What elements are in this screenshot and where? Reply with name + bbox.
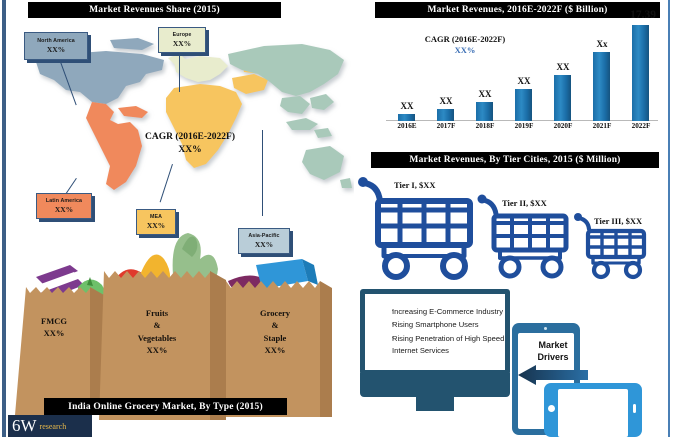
grocery-bags-illustration: FMCG XX% Fruits & Vegetables XX% Grocery…: [14, 215, 344, 420]
phone-screen: [558, 389, 628, 437]
bar-value-2021F: Xx: [582, 39, 622, 49]
bag-line: Staple: [230, 332, 320, 344]
logo-text: 6W: [12, 416, 37, 436]
bag-line: XX%: [230, 344, 320, 356]
x-tick-2019F: 2019F: [504, 122, 544, 130]
cart-tier-1: [358, 177, 470, 277]
map-label-value: XX%: [173, 39, 191, 48]
tablet-camera-icon: [544, 327, 547, 330]
map-label-name: Europe: [173, 32, 192, 39]
carts-section-title: Market Revenues, By Tier Cities, 2015 ($…: [371, 152, 659, 168]
bar-2020F[interactable]: [554, 75, 571, 121]
map-label-value: XX%: [47, 45, 65, 54]
chart-cagr-annotation: CAGR (2016E-2022F) XX%: [400, 34, 530, 56]
bag-label-grocery-staple: Grocery & Staple XX%: [230, 307, 320, 356]
monitor-stand: [416, 395, 454, 411]
bag-label-fmcg: FMCG XX%: [18, 315, 90, 340]
bag-left: [15, 287, 91, 415]
map-label-north-america[interactable]: North America XX%: [24, 32, 88, 60]
chart-cagr-value: XX%: [400, 45, 530, 56]
right-border-band: [668, 0, 670, 437]
bar-value-2019F: XX: [504, 76, 544, 86]
bag-line: Grocery: [230, 307, 320, 319]
cart-label-tier-3: Tier III, $XX: [594, 216, 642, 226]
map-cagr-value: XX%: [110, 144, 270, 157]
bar-value-2018F: XX: [465, 89, 505, 99]
x-tick-2018F: 2018F: [465, 122, 505, 130]
x-tick-2020F: 2020F: [543, 122, 583, 130]
phone-home-button-icon: [548, 405, 555, 412]
logo-subtext: research: [40, 422, 67, 431]
bar-2018F[interactable]: [476, 102, 493, 121]
driver-item: Rising Smartphone Users: [392, 319, 528, 331]
cart-label-tier-2: Tier II, $XX: [502, 198, 547, 208]
driver-item: Rising Penetration of High Speed Interne…: [392, 333, 528, 358]
bags-section-title: India Online Grocery Market, By Type (20…: [44, 398, 287, 415]
bar-2021F[interactable]: [593, 52, 610, 121]
bar-2017F[interactable]: [437, 109, 454, 121]
bar-2022F[interactable]: [632, 25, 649, 121]
map-label-value: XX%: [55, 205, 73, 214]
market-drivers-devices: Increasing E-Commerce Industry Rising Sm…: [352, 283, 668, 437]
bag-line: XX%: [104, 344, 210, 356]
left-arrow-icon: [518, 365, 588, 385]
bag-line: &: [230, 319, 320, 331]
map-label-europe[interactable]: Europe XX%: [158, 27, 206, 53]
tier-cities-carts: Tier I, $XX Tier II, $XX Tier III, $XX: [356, 170, 666, 288]
driver-item: Increasing E-Commerce Industry: [392, 306, 528, 318]
x-tick-2016E: 2016E: [387, 122, 427, 130]
bag-line: FMCG: [18, 315, 90, 327]
bag-line: Fruits: [104, 307, 210, 319]
chart-cagr-label: CAGR (2016E-2022F): [400, 34, 530, 45]
bag-line: Vegetables: [104, 332, 210, 344]
x-tick-2017F: 2017F: [426, 122, 466, 130]
company-logo: 6W research: [8, 415, 92, 437]
bar-value-2022F: 17.39: [621, 9, 665, 21]
cart-label-tier-1: Tier I, $XX: [394, 180, 435, 190]
map-label-name: Latin America: [46, 198, 82, 205]
map-cagr-annotation: CAGR (2016E-2022F) XX%: [110, 131, 270, 157]
bar-2016E[interactable]: [398, 114, 415, 121]
x-tick-2021F: 2021F: [582, 122, 622, 130]
bag-line: XX%: [18, 327, 90, 339]
bar-value-2017F: XX: [426, 96, 466, 106]
bag-label-fruits-vegetables: Fruits & Vegetables XX%: [104, 307, 210, 356]
phone-speaker-icon: [633, 404, 636, 413]
x-tick-2022F: 2022F: [621, 122, 661, 130]
infographic-page: Market Revenues Share (2015): [0, 0, 680, 437]
monitor-screen: Increasing E-Commerce Industry Rising Sm…: [360, 289, 510, 375]
drivers-list: Increasing E-Commerce Industry Rising Sm…: [381, 306, 528, 358]
revenue-bar-chart: CAGR (2016E-2022F) XX% XX XX XX XX XX Xx…: [372, 16, 664, 142]
map-cagr-label: CAGR (2016E-2022F): [110, 131, 270, 144]
leader-line-asia-pacific: [262, 130, 263, 216]
bag-line: &: [104, 319, 210, 331]
left-border-band: [2, 0, 6, 437]
bar-2019F[interactable]: [515, 89, 532, 121]
market-drivers-heading: Market Drivers: [524, 339, 582, 363]
map-section-title: Market Revenues Share (2015): [28, 2, 281, 18]
bar-value-2020F: XX: [543, 62, 583, 72]
bar-value-2016E: XX: [387, 101, 427, 111]
map-label-name: North America: [37, 38, 75, 45]
monitor-base: [360, 373, 510, 397]
